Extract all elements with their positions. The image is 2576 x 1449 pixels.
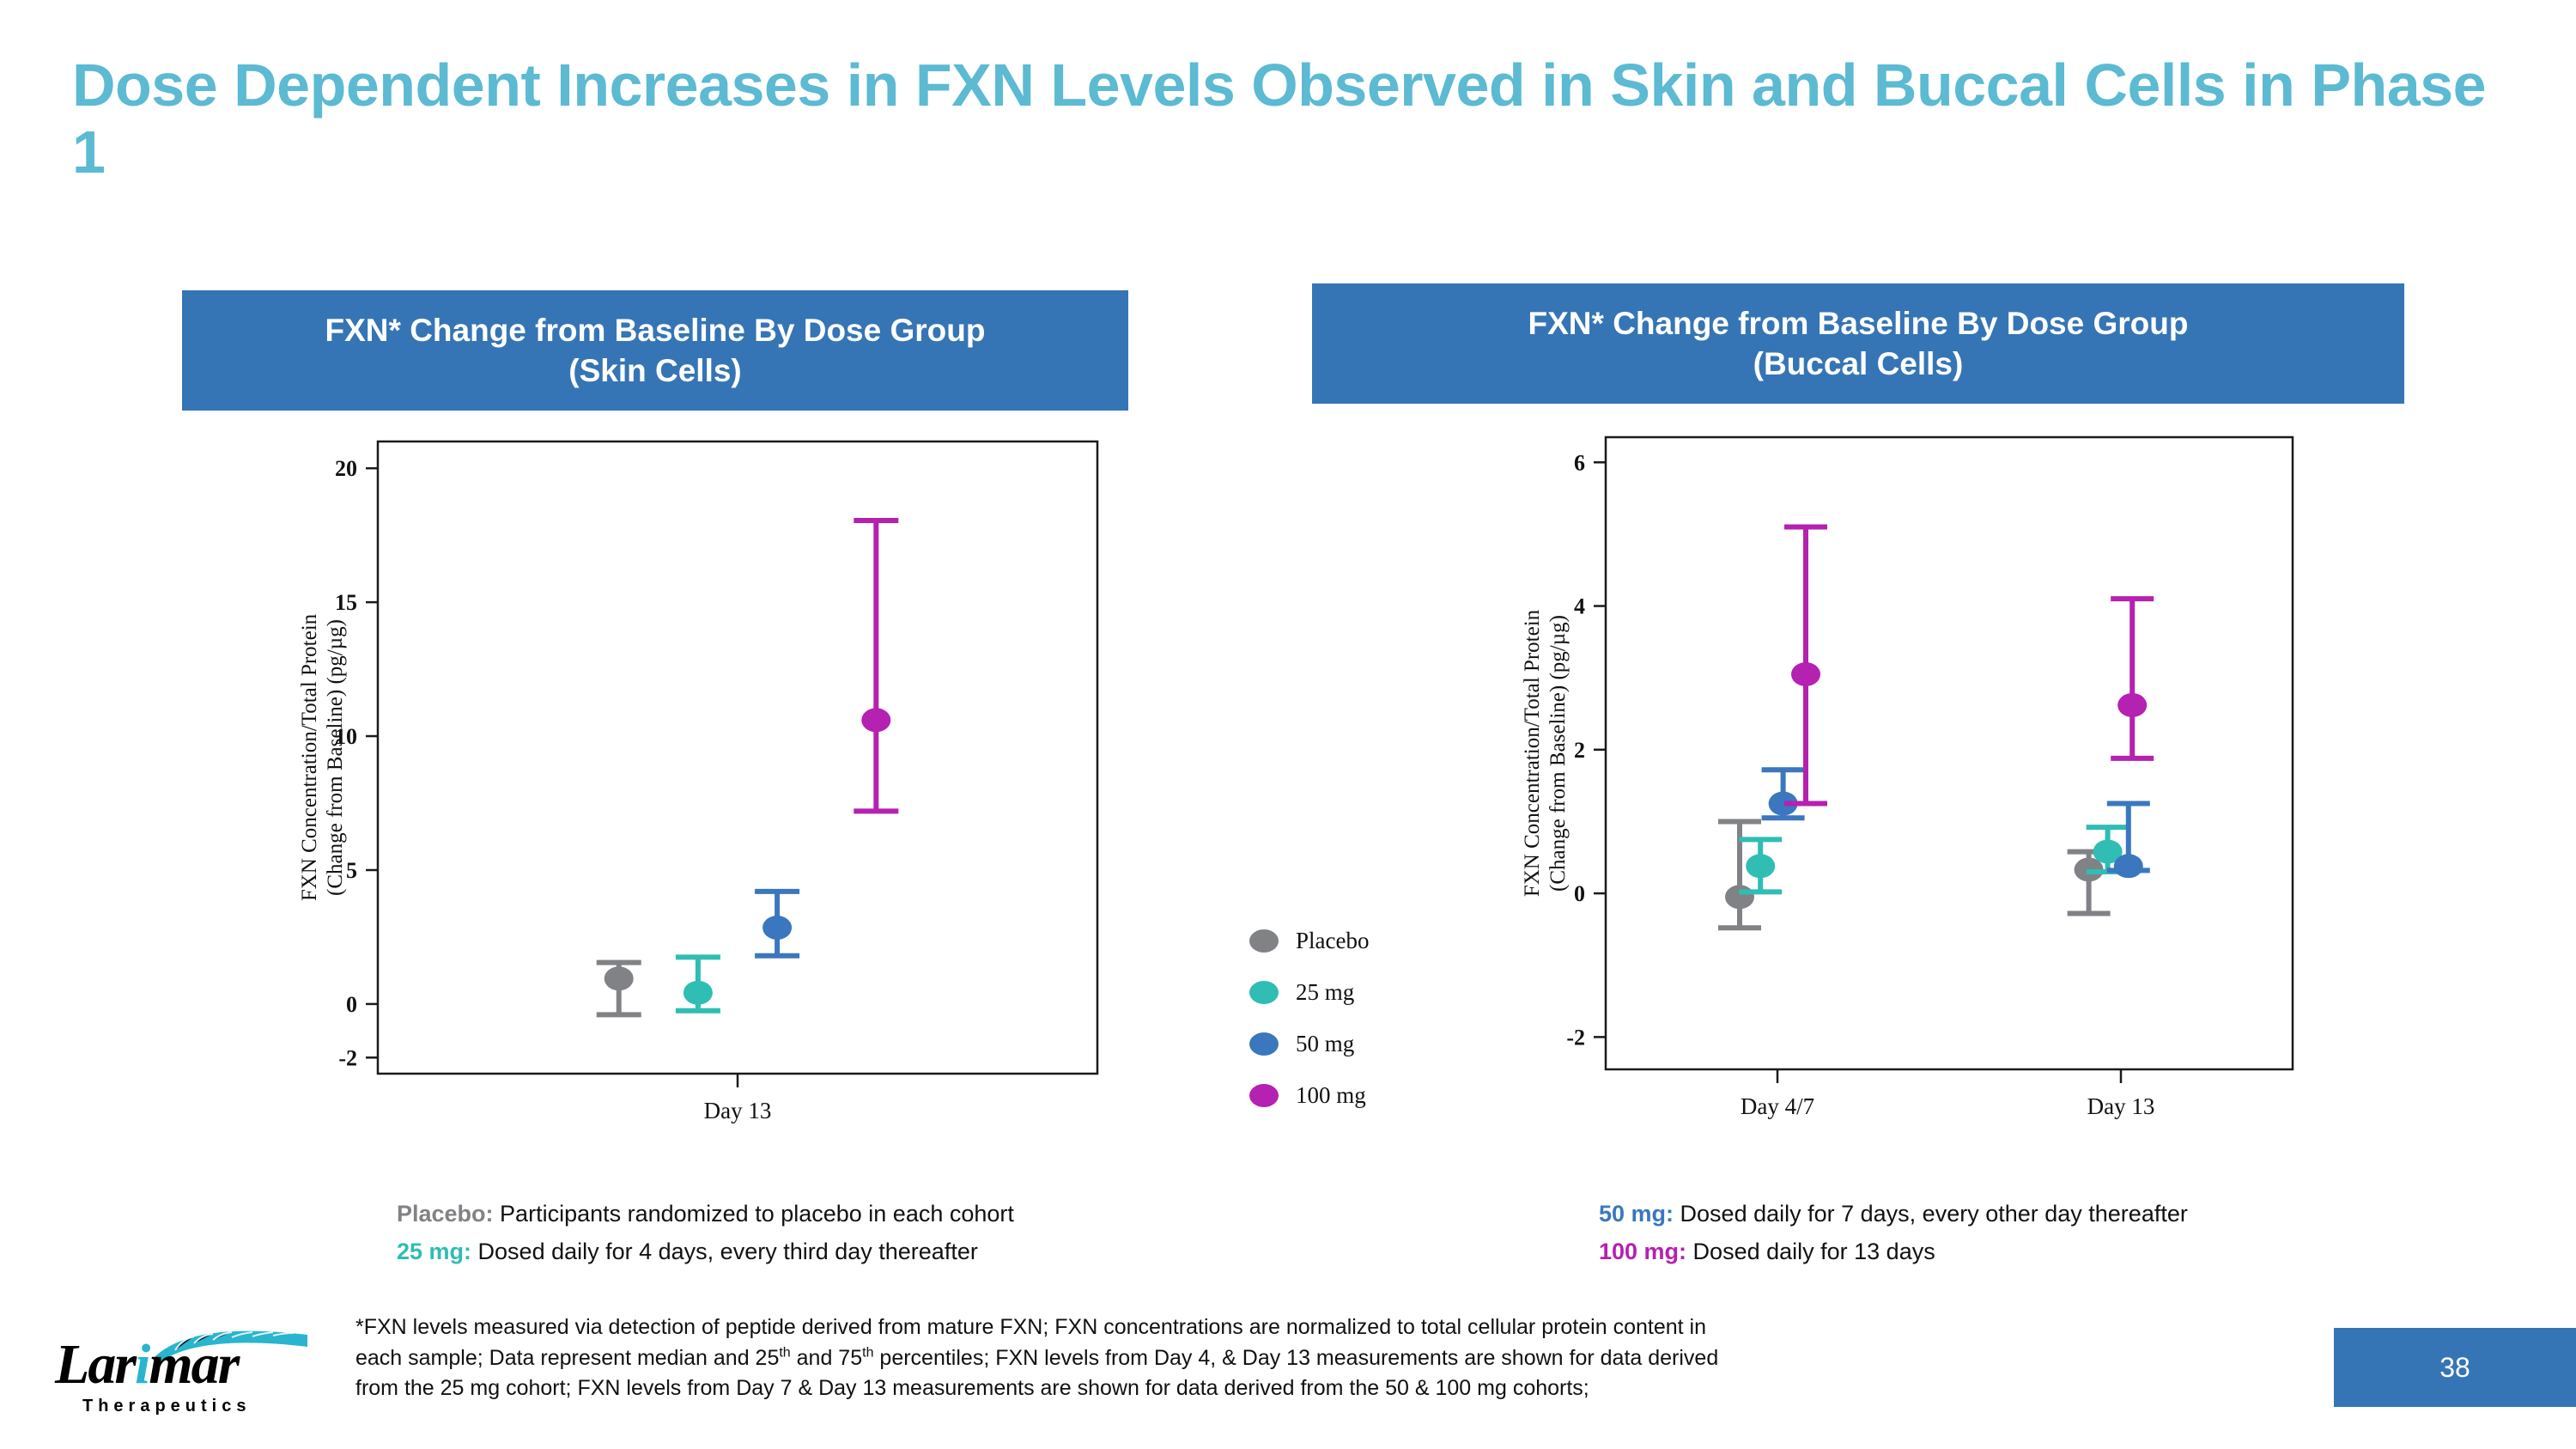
page-number: 38 (2439, 1352, 2470, 1384)
footnote: *FXN levels measured via detection of pe… (355, 1312, 2159, 1404)
footnote-line-2: each sample; Data represent median and 2… (355, 1343, 2159, 1374)
y-axis-tick-label: 5 (346, 858, 357, 883)
median-marker (2117, 693, 2147, 717)
footnote-line-2-b: and 75 (791, 1346, 862, 1370)
y-axis-title-line1: FXN Concentration/Total Protein (1521, 609, 1544, 897)
dose-caption-line: 25 mg: Dosed daily for 4 days, every thi… (397, 1233, 1307, 1271)
y-axis-tick-label: 4 (1574, 594, 1585, 619)
page-number-badge: 38 (2334, 1328, 2576, 1407)
plot-frame (378, 441, 1097, 1074)
footnote-line-1: *FXN levels measured via detection of pe… (355, 1312, 2159, 1343)
panel-header-buccal-line2: (Buccal Cells) (1528, 344, 2189, 384)
median-marker (683, 981, 713, 1005)
legend-item-label: 25 mg (1296, 979, 1354, 1006)
logo-wordmark: Larimar (55, 1336, 238, 1393)
logo-word-part1: Lar (55, 1333, 135, 1396)
chart-buccal-cells: -20246Day 4/7Day 13FXN Concentration/Tot… (1460, 425, 2318, 1164)
dose-caption-text: Dosed daily for 4 days, every third day … (471, 1239, 978, 1264)
data-point-group (854, 521, 898, 811)
y-axis-tick-label: -2 (1566, 1025, 1585, 1050)
y-axis-tick-label: -2 (338, 1045, 357, 1070)
footnote-line-3: from the 25 mg cohort; FXN levels from D… (355, 1373, 2159, 1404)
legend-marker-icon (1249, 1084, 1279, 1107)
dose-caption-key: 25 mg: (397, 1239, 471, 1264)
median-marker (1791, 662, 1820, 686)
y-axis-tick-label: 2 (1574, 738, 1585, 763)
legend-item: 100 mg (1249, 1069, 1447, 1121)
y-axis-tick-label: 0 (346, 992, 357, 1017)
dose-captions-left: Placebo: Participants randomized to plac… (397, 1196, 1307, 1270)
y-axis-title-line2: (Change from Baseline) (pg/µg) (1546, 615, 1570, 892)
data-point-group (1784, 527, 1827, 804)
chart-svg: -20246Day 4/7Day 13FXN Concentration/Tot… (1460, 425, 2318, 1164)
logo-word-part3: mar (149, 1333, 238, 1396)
median-marker (2114, 854, 2143, 878)
dose-caption-text: Participants randomized to placebo in ea… (494, 1201, 1014, 1227)
legend-item: 50 mg (1249, 1018, 1447, 1069)
dose-captions-right: 50 mg: Dosed daily for 7 days, every oth… (1599, 1196, 2543, 1270)
page-title: Dose Dependent Increases in FXN Levels O… (72, 52, 2511, 186)
dose-caption-line: 50 mg: Dosed daily for 7 days, every oth… (1599, 1196, 2543, 1233)
dose-caption-key: Placebo: (397, 1201, 494, 1227)
dose-caption-key: 100 mg: (1599, 1239, 1686, 1264)
slide-canvas: Dose Dependent Increases in FXN Levels O… (0, 0, 2576, 1449)
panel-header-skin-line2: (Skin Cells) (325, 350, 986, 391)
footnote-sup-25th: th (779, 1345, 790, 1360)
footnote-line-2-c: percentiles; FXN levels from Day 4, & Da… (873, 1346, 1718, 1370)
median-marker (1746, 854, 1775, 878)
logo-tagline: Therapeutics (82, 1397, 251, 1416)
larimar-logo: Larimar Therapeutics (50, 1330, 316, 1416)
data-point-group (1739, 839, 1782, 892)
x-axis-category-label: Day 13 (2087, 1093, 2155, 1119)
logo-word-part2: i (135, 1333, 149, 1396)
data-point-group (755, 892, 799, 956)
legend-item: 25 mg (1249, 966, 1447, 1018)
dose-caption-line: 100 mg: Dosed daily for 13 days (1599, 1233, 2543, 1271)
median-marker (1725, 885, 1754, 909)
y-axis-tick-label: 15 (335, 590, 357, 615)
chart-skin-cells: -205101520Day 13FXN Concentration/Total … (240, 429, 1151, 1168)
y-axis-tick-label: 6 (1574, 450, 1585, 475)
legend-item-label: Placebo (1296, 928, 1369, 954)
median-marker (605, 966, 634, 990)
legend-marker-icon (1249, 929, 1279, 953)
y-axis-tick-label: 20 (335, 456, 357, 481)
panel-header-buccal-line1: FXN* Change from Baseline By Dose Group (1528, 303, 2189, 344)
chart-svg: -205101520Day 13FXN Concentration/Total … (240, 429, 1151, 1168)
data-point-group (597, 963, 641, 1015)
data-point-group (676, 957, 720, 1010)
panel-header-skin-line1: FXN* Change from Baseline By Dose Group (325, 310, 986, 350)
x-axis-category-label: Day 13 (704, 1098, 772, 1123)
chart-legend: Placebo25 mg50 mg100 mg (1249, 915, 1447, 1121)
median-marker (762, 916, 792, 940)
median-marker (861, 708, 890, 732)
footnote-line-2-a: each sample; Data represent median and 2… (355, 1346, 779, 1370)
legend-marker-icon (1249, 1032, 1279, 1056)
y-axis-tick-label: 0 (1574, 881, 1585, 906)
legend-item: Placebo (1249, 915, 1447, 966)
dose-caption-text: Dosed daily for 13 days (1686, 1239, 1935, 1264)
footnote-sup-75th: th (862, 1345, 873, 1360)
panel-header-buccal: FXN* Change from Baseline By Dose Group … (1312, 283, 2404, 404)
plot-frame (1606, 437, 2293, 1069)
dose-caption-line: Placebo: Participants randomized to plac… (397, 1196, 1307, 1233)
y-axis-title-line1: FXN Concentration/Total Protein (298, 613, 321, 901)
dose-caption-key: 50 mg: (1599, 1201, 1674, 1227)
data-point-group (1762, 770, 1805, 818)
data-point-group (2111, 599, 2154, 758)
panel-header-skin: FXN* Change from Baseline By Dose Group … (182, 290, 1128, 411)
y-axis-title-line2: (Change from Baseline) (pg/µg) (324, 619, 347, 896)
dose-caption-text: Dosed daily for 7 days, every other day … (1674, 1201, 2188, 1227)
legend-item-label: 100 mg (1296, 1082, 1366, 1109)
legend-marker-icon (1249, 981, 1279, 1004)
x-axis-category-label: Day 4/7 (1741, 1093, 1814, 1119)
legend-item-label: 50 mg (1296, 1031, 1354, 1057)
